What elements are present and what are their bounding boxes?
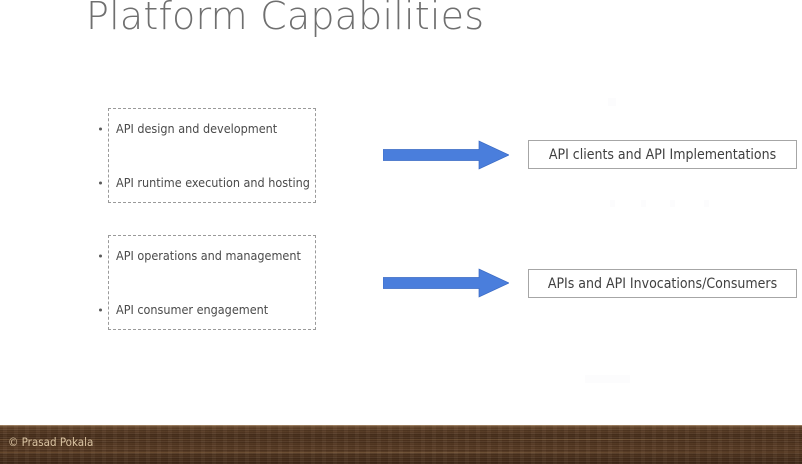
outcome-box-2: APIs and API Invocations/Consumers	[528, 269, 797, 298]
background-artifact	[608, 98, 616, 106]
list-item: API consumer engagement	[109, 298, 315, 322]
outcome-box-1: API clients and API Implementations	[528, 140, 797, 169]
list-item: API runtime execution and hosting	[109, 171, 315, 195]
list-item: API design and development	[109, 117, 315, 141]
background-artifact	[610, 200, 615, 207]
page-title: Platform Capabilities	[86, 0, 484, 38]
background-artifact	[641, 200, 646, 207]
capability-label: API runtime execution and hosting	[109, 177, 310, 190]
outcome-label: API clients and API Implementations	[549, 148, 776, 162]
capability-group-2: API operations and management API consum…	[108, 235, 316, 330]
right-arrow-icon	[383, 268, 509, 298]
outcome-label: APIs and API Invocations/Consumers	[548, 277, 777, 291]
right-arrow-icon	[383, 140, 509, 170]
slide-footer: © Prasad Pokala	[0, 425, 802, 464]
capability-label: API design and development	[109, 123, 277, 136]
background-artifact	[704, 200, 709, 207]
slide-canvas: Platform Capabilities API design and dev…	[0, 0, 802, 464]
capability-label: API consumer engagement	[109, 304, 268, 317]
copyright-text: © Prasad Pokala	[8, 437, 93, 449]
capability-label: API operations and management	[109, 250, 301, 263]
bullet-dot-icon	[99, 128, 102, 131]
bullet-dot-icon	[99, 255, 102, 258]
background-artifact	[670, 200, 675, 207]
bullet-dot-icon	[99, 182, 102, 185]
bullet-dot-icon	[99, 309, 102, 312]
wood-grain-line	[0, 452, 802, 453]
footer-top-highlight	[0, 425, 802, 427]
wood-grain-line	[0, 439, 802, 440]
capability-group-1: API design and development API runtime e…	[108, 108, 316, 203]
list-item: API operations and management	[109, 244, 315, 268]
background-artifact	[585, 375, 630, 383]
